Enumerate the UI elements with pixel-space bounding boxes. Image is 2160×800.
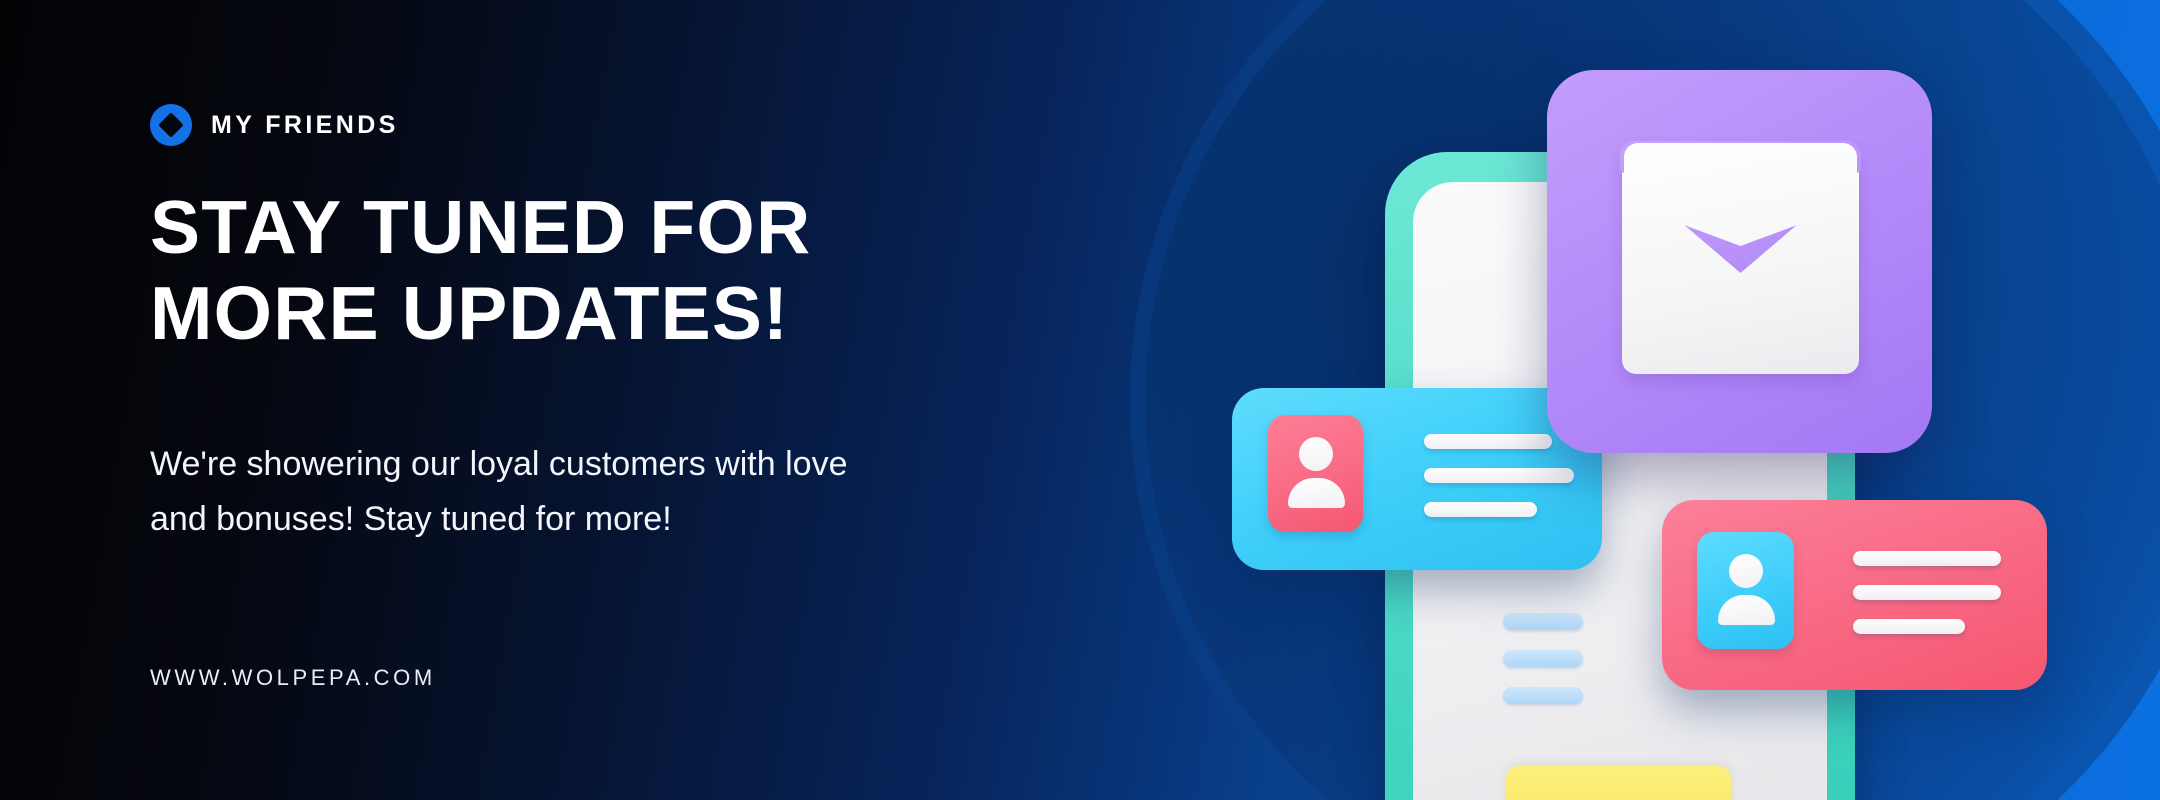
envelope-icon [1622,143,1859,374]
card-text-bar [1853,551,2001,566]
card-text-bar [1853,585,2001,600]
person-icon-head [1299,437,1333,471]
avatar-tile [1268,415,1363,532]
card-text-bar [1424,434,1552,449]
card-text-bar [1424,468,1574,483]
screen-text-line [1503,650,1583,667]
screen-text-line [1503,613,1583,630]
avatar-tile [1697,532,1794,649]
card-text-bar [1424,502,1537,517]
card-text-bar [1853,619,1965,634]
screen-text-line [1503,687,1583,704]
person-icon-head [1729,554,1763,588]
hero-illustration [0,0,2160,800]
yellow-pill-button [1506,766,1731,800]
promo-banner: MY FRIENDS STAY TUNED FOR MORE UPDATES! … [0,0,2160,800]
